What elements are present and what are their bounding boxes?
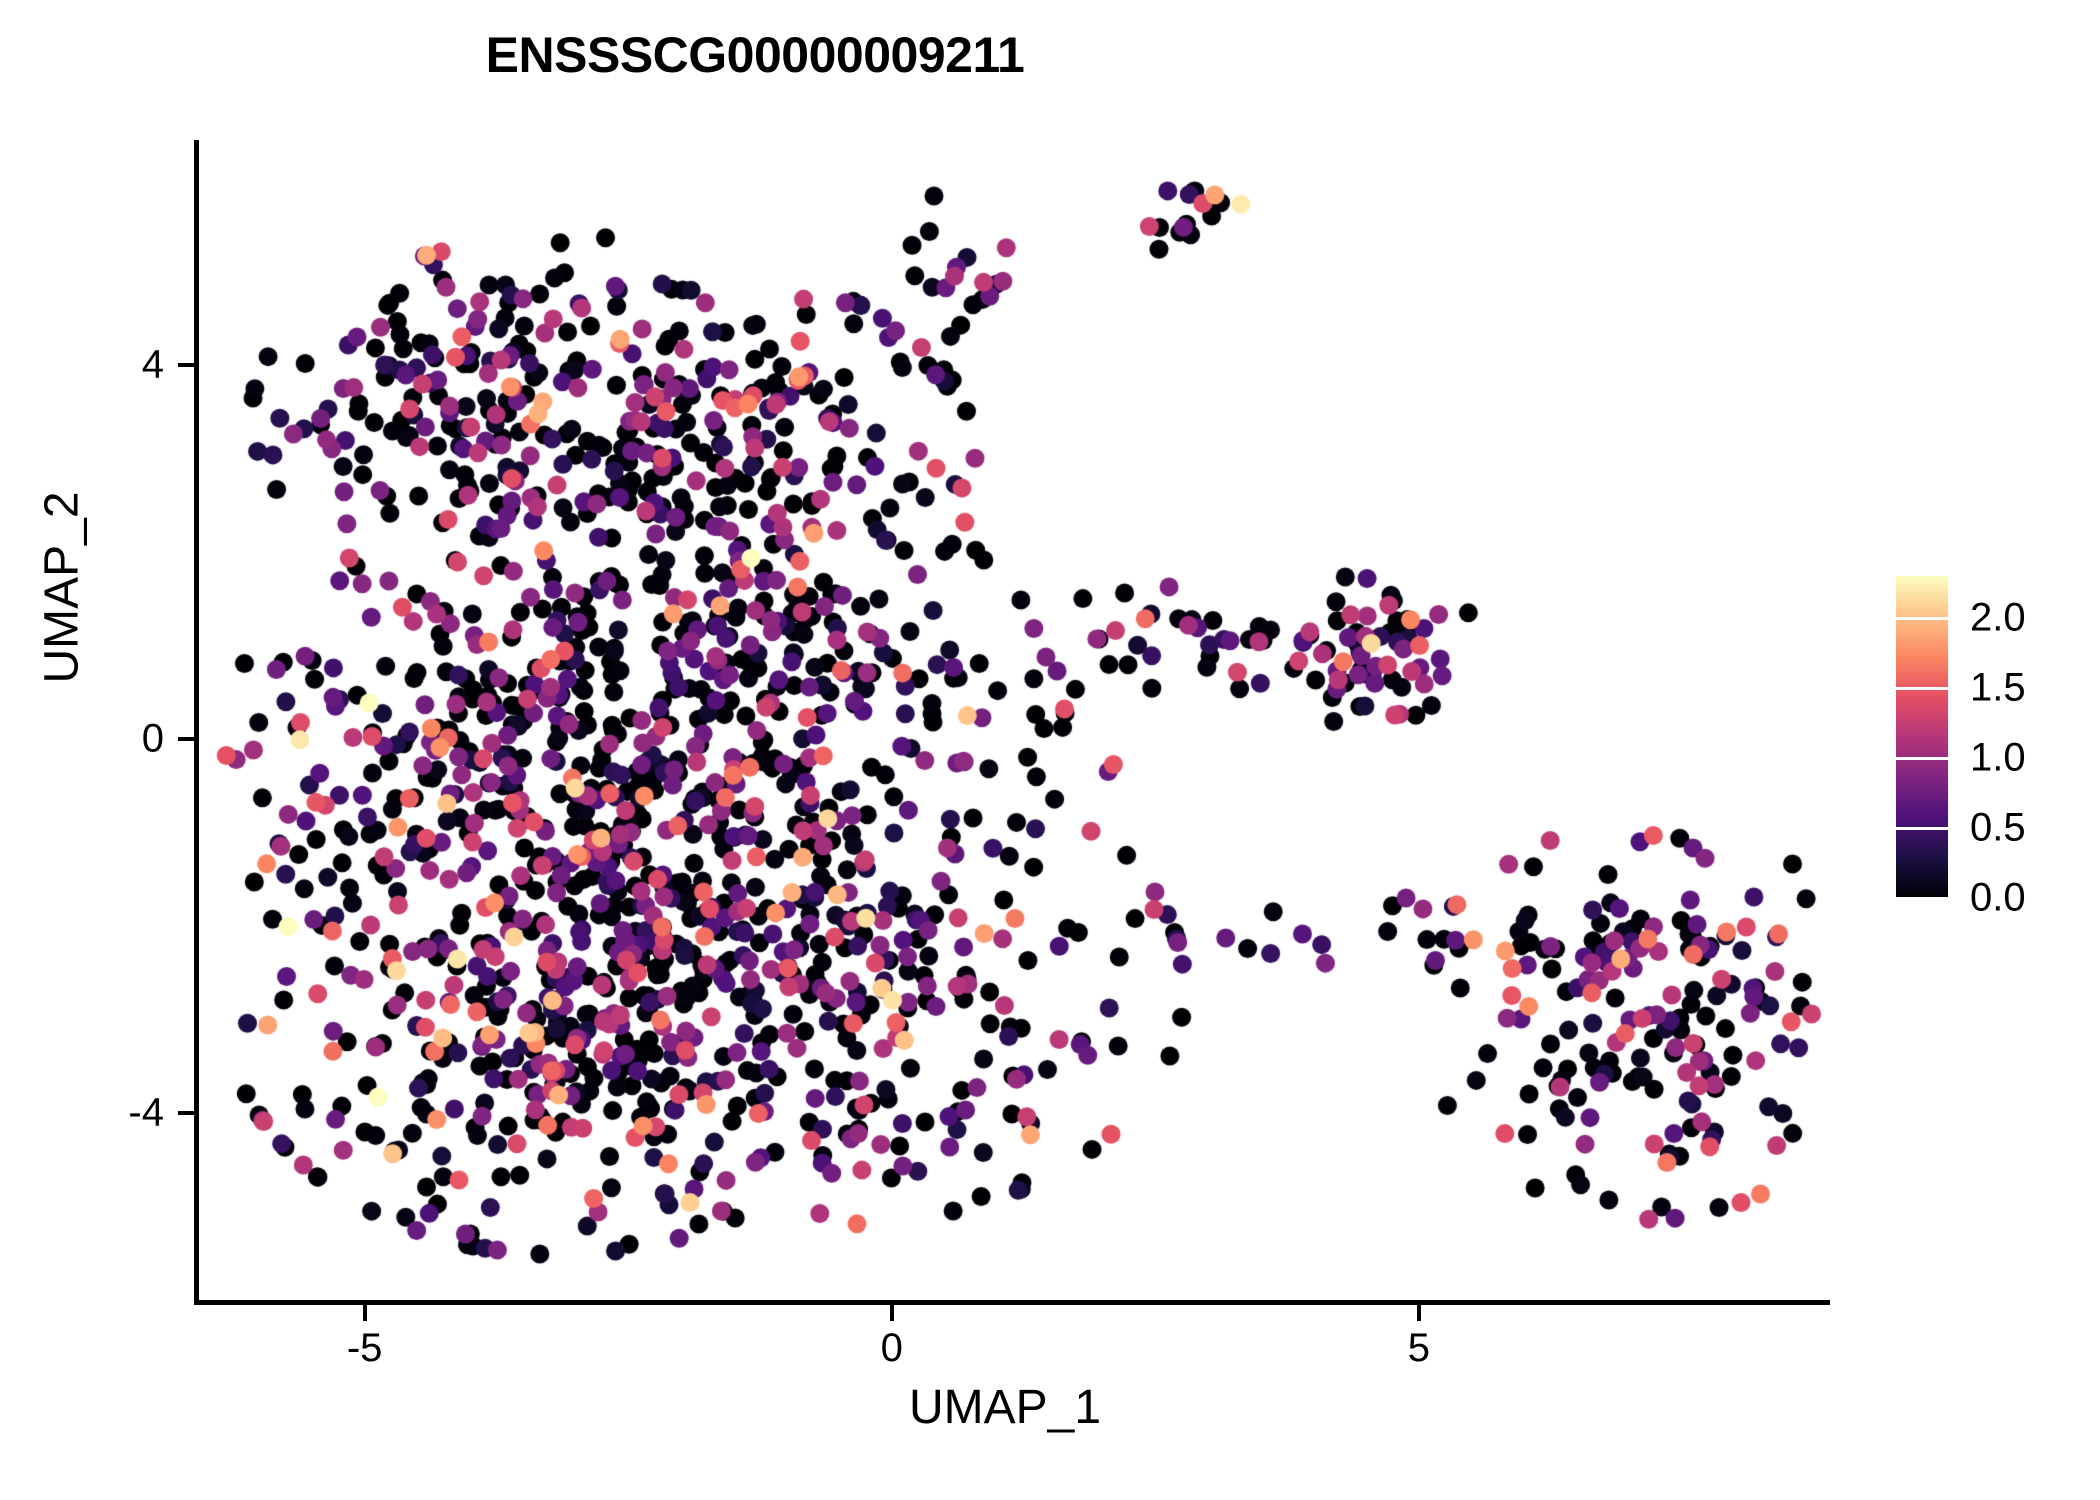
scatter-canvas: [0, 0, 2100, 1500]
colorbar-gradient: [1896, 576, 1948, 898]
colorbar-tick-mark: [1896, 617, 1948, 620]
x-tick-label: 5: [1359, 1326, 1479, 1371]
colorbar-tick-label: 0.5: [1970, 806, 2026, 851]
colorbar-tick-mark: [1896, 757, 1948, 760]
x-tick-mark: [1417, 1305, 1421, 1321]
y-tick-mark: [178, 737, 194, 741]
chart-root: ENSSSCG00000009211 40-4-505 UMAP_2 UMAP_…: [0, 0, 2100, 1500]
colorbar-tick-mark: [1896, 687, 1948, 690]
x-tick-label: -5: [305, 1326, 425, 1371]
y-axis-label: UMAP_2: [35, 378, 90, 798]
x-tick-mark: [363, 1305, 367, 1321]
y-tick-label: -4: [44, 1090, 164, 1135]
x-tick-label: 0: [832, 1326, 952, 1371]
x-axis-label: UMAP_1: [590, 1380, 1420, 1435]
y-tick-mark: [178, 1111, 194, 1115]
x-axis-line: [194, 1300, 1830, 1305]
x-tick-mark: [890, 1305, 894, 1321]
colorbar-tick-mark: [1896, 827, 1948, 830]
colorbar-tick-label: 0.0: [1970, 876, 2026, 921]
y-tick-mark: [178, 363, 194, 367]
colorbar-tick-label: 1.5: [1970, 666, 2026, 711]
colorbar-tick-label: 1.0: [1970, 736, 2026, 781]
y-axis-line: [194, 140, 199, 1305]
colorbar-tick-mark: [1896, 897, 1948, 900]
colorbar-tick-label: 2.0: [1970, 596, 2026, 641]
page-title: ENSSSCG00000009211: [0, 26, 1510, 84]
